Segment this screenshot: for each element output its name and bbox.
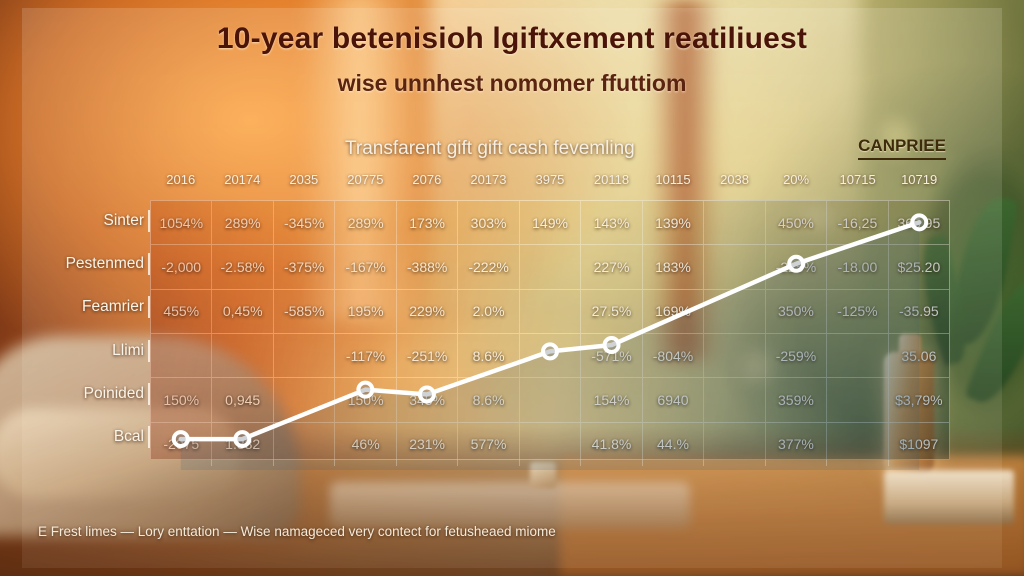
table-cell[interactable]: 303% (458, 201, 519, 244)
table-cell[interactable]: 345% (397, 378, 458, 421)
table-cell[interactable]: 0,945 (212, 378, 273, 421)
table-cell[interactable]: 227% (581, 245, 642, 288)
table-row[interactable]: 1054%289%-345%289%173%303%149%143%139%45… (151, 201, 949, 245)
table-cell[interactable] (274, 378, 335, 421)
table-cell[interactable] (520, 334, 581, 377)
table-row[interactable]: -2,000-2.58%-375%-167%-388%-222%227%183%… (151, 245, 949, 289)
table-cell[interactable]: 27.5% (581, 290, 642, 333)
table-cell[interactable]: -388% (397, 245, 458, 288)
table-cell[interactable]: 450% (766, 201, 827, 244)
table-cell[interactable]: 44.% (643, 423, 704, 466)
page-subtitle: wise unnhest nomomer ffuttiom (0, 70, 1024, 97)
table-cell[interactable]: 231% (397, 423, 458, 466)
table-cell[interactable]: 577% (458, 423, 519, 466)
column-header: 20173 (458, 172, 520, 194)
table-cell[interactable]: -2,000 (151, 245, 212, 288)
table-cell[interactable]: -251% (397, 334, 458, 377)
table-cell[interactable]: 41.8% (581, 423, 642, 466)
column-header: 10115 (642, 172, 704, 194)
table-cell[interactable]: -125% (827, 290, 888, 333)
table-cell[interactable] (827, 423, 888, 466)
table-cell[interactable]: -167% (335, 245, 396, 288)
table-cell[interactable]: 359% (766, 378, 827, 421)
table-row[interactable]: -20751.88246%231%577%41.8%44.%377%$1097 (151, 423, 949, 466)
column-header: 2035 (273, 172, 335, 194)
table-cell[interactable] (704, 378, 765, 421)
table-cell[interactable]: 46% (335, 423, 396, 466)
table-cell[interactable]: 1054% (151, 201, 212, 244)
table-cell[interactable]: 149% (520, 201, 581, 244)
table-cell[interactable]: 6940 (643, 378, 704, 421)
table-cell[interactable] (704, 290, 765, 333)
table-cell[interactable]: 8.6% (458, 378, 519, 421)
table-cell[interactable] (212, 334, 273, 377)
table-cell[interactable]: $3,79% (889, 378, 949, 421)
column-header: 10719 (888, 172, 950, 194)
row-label: Pestenmed (20, 255, 144, 273)
table-cell[interactable]: 143% (581, 201, 642, 244)
table-row[interactable]: 150%0,945150%345%8.6%154%6940359%$3,79% (151, 378, 949, 422)
screenshot-stage: 10-year betenisioh lgiftxement reatiliue… (0, 0, 1024, 576)
table-cell[interactable]: -18.00 (827, 245, 888, 288)
table-cell[interactable] (704, 201, 765, 244)
table-cell[interactable]: -2.58% (212, 245, 273, 288)
table-cell[interactable]: -259% (766, 334, 827, 377)
table-cell[interactable]: 350% (766, 290, 827, 333)
table-cell[interactable]: 150% (151, 378, 212, 421)
table-cell[interactable]: $1097 (889, 423, 949, 466)
table-cell[interactable]: 8.6% (458, 334, 519, 377)
column-header: 2016 (150, 172, 212, 194)
table-cell[interactable] (520, 245, 581, 288)
row-label: Feamrier (20, 298, 144, 316)
table-cell[interactable]: 195% (335, 290, 396, 333)
table-row[interactable]: -117%-251%8.6%-571%-804%-259%35.06 (151, 334, 949, 378)
column-header-row: 2016201742035207752076201733975201181011… (150, 172, 950, 194)
table-cell[interactable] (274, 334, 335, 377)
table-cell[interactable]: -35.95 (889, 290, 949, 333)
table-cell[interactable] (151, 334, 212, 377)
table-cell[interactable] (827, 378, 888, 421)
table-cell[interactable] (704, 423, 765, 466)
row-label: Llimi (20, 342, 144, 360)
table-cell[interactable]: -2075 (151, 423, 212, 466)
table-cell[interactable]: 2.0% (458, 290, 519, 333)
column-header: 2038 (704, 172, 766, 194)
row-label: Sinter (20, 212, 144, 230)
table-caption: Transfarent gift gift cash fevemling (345, 138, 635, 160)
table-cell[interactable]: 169% (643, 290, 704, 333)
column-header: 10715 (827, 172, 889, 194)
table-cell[interactable] (520, 378, 581, 421)
row-label-column: SinterPestenmedFeamrierLlimiPoinidedBcal (20, 200, 148, 460)
data-table[interactable]: 1054%289%-345%289%173%303%149%143%139%45… (150, 200, 950, 460)
table-cell[interactable]: -375% (274, 245, 335, 288)
table-cell[interactable]: 139% (643, 201, 704, 244)
table-cell[interactable] (274, 423, 335, 466)
table-cell[interactable]: -16,25 (827, 201, 888, 244)
corner-label: CANPRIEE (858, 136, 946, 160)
row-label: Poinided (20, 385, 144, 403)
table-cell[interactable]: -117% (335, 334, 396, 377)
table-cell[interactable]: -222% (458, 245, 519, 288)
column-header: 3975 (519, 172, 581, 194)
table-cell[interactable]: -571% (581, 334, 642, 377)
table-cell[interactable]: 154% (581, 378, 642, 421)
table-cell[interactable]: 0,45% (212, 290, 273, 333)
table-cell[interactable]: -345% (274, 201, 335, 244)
table-cell[interactable]: 35.06 (889, 334, 949, 377)
table-cell[interactable]: -804% (643, 334, 704, 377)
table-cell[interactable]: 183% (643, 245, 704, 288)
table-cell[interactable]: 150% (335, 378, 396, 421)
table-cell[interactable]: -225% (766, 245, 827, 288)
table-cell[interactable]: 173% (397, 201, 458, 244)
row-label: Bcal (20, 428, 144, 446)
column-header: 20118 (581, 172, 643, 194)
page-title: 10-year betenisioh lgiftxement reatiliue… (0, 22, 1024, 56)
footnote: E Frest limes — Lory enttation — Wise na… (38, 524, 556, 539)
table-cell[interactable]: $25.20 (889, 245, 949, 288)
table-cell[interactable] (704, 245, 765, 288)
table-cell[interactable]: 455% (151, 290, 212, 333)
column-header: 2076 (396, 172, 458, 194)
table-cell[interactable]: 377% (766, 423, 827, 466)
table-cell[interactable]: -585% (274, 290, 335, 333)
table-cell[interactable]: 289% (212, 201, 273, 244)
column-header: 20775 (335, 172, 397, 194)
table-cell[interactable]: 229% (397, 290, 458, 333)
table-cell[interactable] (520, 290, 581, 333)
table-cell[interactable] (704, 334, 765, 377)
table-cell[interactable]: 365,95 (889, 201, 949, 244)
table-cell[interactable] (827, 334, 888, 377)
table-row[interactable]: 455%0,45%-585%195%229%2.0%27.5%169%350%-… (151, 290, 949, 334)
table-cell[interactable]: 1.882 (212, 423, 273, 466)
table-cell[interactable]: 289% (335, 201, 396, 244)
table-cell[interactable] (520, 423, 581, 466)
column-header: 20% (765, 172, 827, 194)
column-header: 20174 (212, 172, 274, 194)
